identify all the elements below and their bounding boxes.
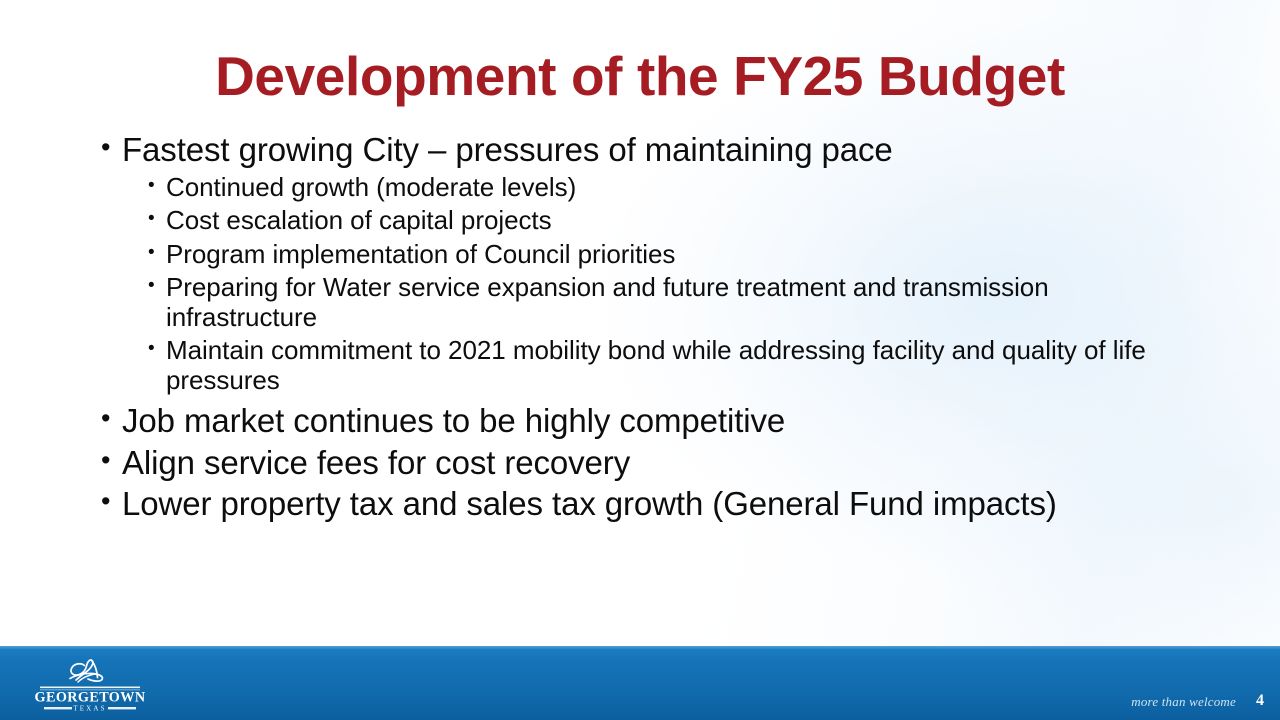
slide-title: Development of the FY25 Budget [0,47,1280,106]
presentation-slide: Development of the FY25 Budget Fastest g… [0,0,1280,720]
sub-bullet-item: Program implementation of Council priori… [122,239,1156,269]
slide-page-number: 4 [1256,692,1264,710]
logo-bottom-rule-right [108,707,136,709]
logo-artwork: GEORGETOWN TEXAS [34,656,146,714]
footer-top-divider [0,646,1280,649]
sub-bullet-item: Continued growth (moderate levels) [122,172,1156,202]
logo-top-rule [40,687,140,689]
bullet-item: Fastest growing City – pressures of main… [96,132,1156,395]
footer-tagline: more than welcome [1131,694,1236,710]
sub-bullet-item: Maintain commitment to 2021 mobility bon… [122,335,1156,395]
slide-body: Fastest growing City – pressures of main… [96,132,1156,527]
bullet-list-level-1: Fastest growing City – pressures of main… [96,132,1156,522]
logo-state-label: TEXAS [73,705,107,713]
logo-wordmark: GEORGETOWN [35,690,146,706]
bullet-item: Lower property tax and sales tax growth … [96,486,1156,522]
slide-footer [0,646,1280,720]
bullet-text: Lower property tax and sales tax growth … [122,486,1156,522]
bullet-item: Align service fees for cost recovery [96,445,1156,481]
sub-bullet-item: Preparing for Water service expansion an… [122,272,1156,332]
sub-bullet-item: Cost escalation of capital projects [122,205,1156,235]
georgetown-texas-logo: GEORGETOWN TEXAS [34,656,146,714]
script-monogram-icon [70,660,103,682]
bullet-text: Align service fees for cost recovery [122,445,1156,481]
logo-bottom-rule-left [44,707,72,709]
bullet-text: Fastest growing City – pressures of main… [122,132,1156,168]
bullet-item: Job market continues to be highly compet… [96,403,1156,439]
bullet-text: Job market continues to be highly compet… [122,403,1156,439]
bullet-list-level-2: Continued growth (moderate levels) Cost … [122,172,1156,395]
